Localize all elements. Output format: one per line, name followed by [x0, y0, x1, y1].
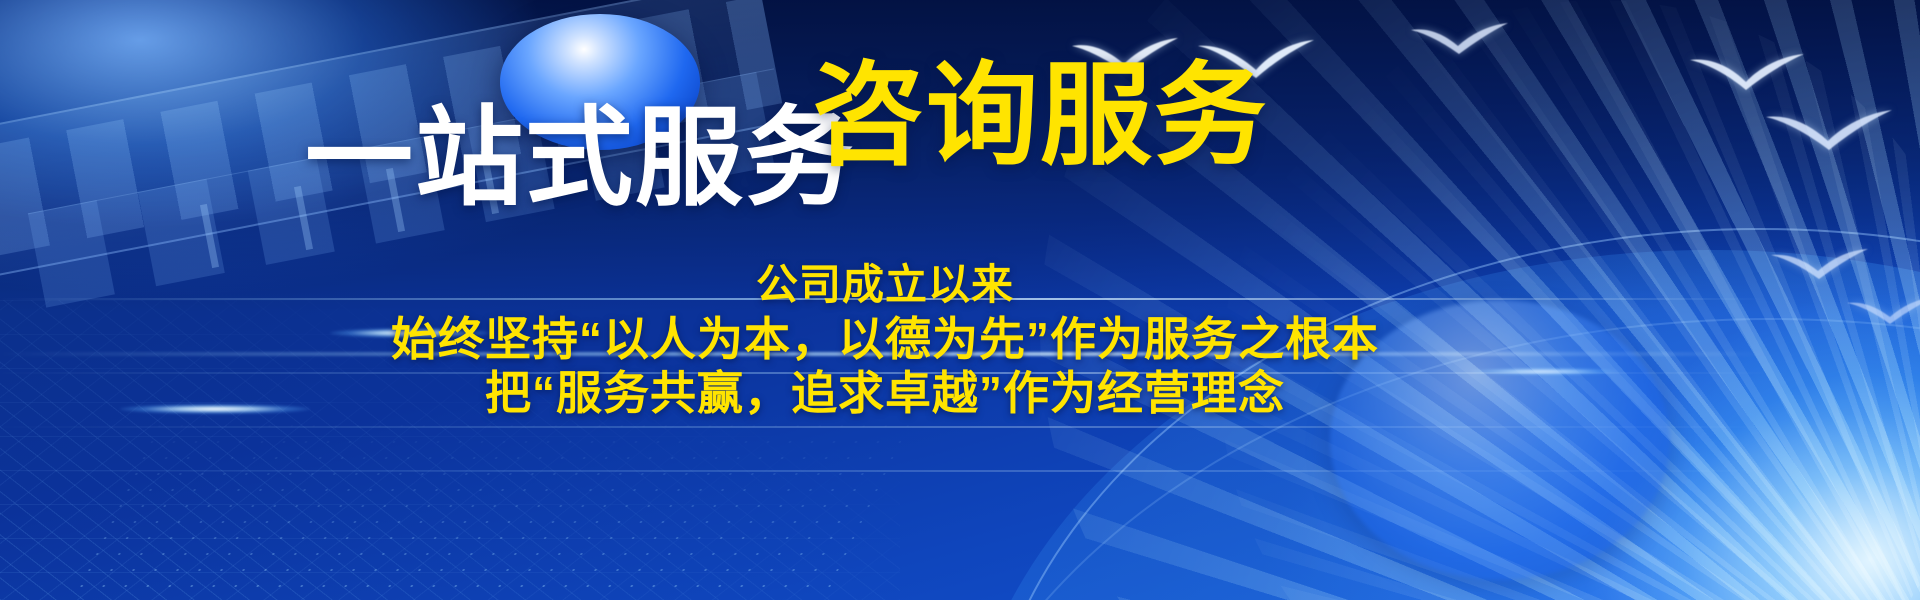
- tagline-line-2: 始终坚持“以人为本，以德为先”作为服务之根本: [0, 312, 1770, 366]
- promo-banner: 一站式服务 咨询服务 公司成立以来 始终坚持“以人为本，以德为先”作为服务之根本…: [0, 0, 1920, 600]
- seagull-icon: [1764, 108, 1894, 154]
- tagline-block: 公司成立以来 始终坚持“以人为本，以德为先”作为服务之根本 把“服务共赢，追求卓…: [0, 258, 1920, 420]
- tagline-line-1: 公司成立以来: [0, 258, 1770, 312]
- tagline-line-3: 把“服务共赢，追求卓越”作为经营理念: [0, 366, 1770, 420]
- seagull-icon: [1410, 22, 1510, 58]
- headline-white: 一站式服务: [305, 104, 855, 212]
- seagull-icon: [1688, 52, 1806, 94]
- headline-yellow: 咨询服务: [812, 60, 1268, 172]
- headline-white-text: 一站式服务: [305, 104, 855, 212]
- headline-yellow-text: 咨询服务: [812, 60, 1268, 172]
